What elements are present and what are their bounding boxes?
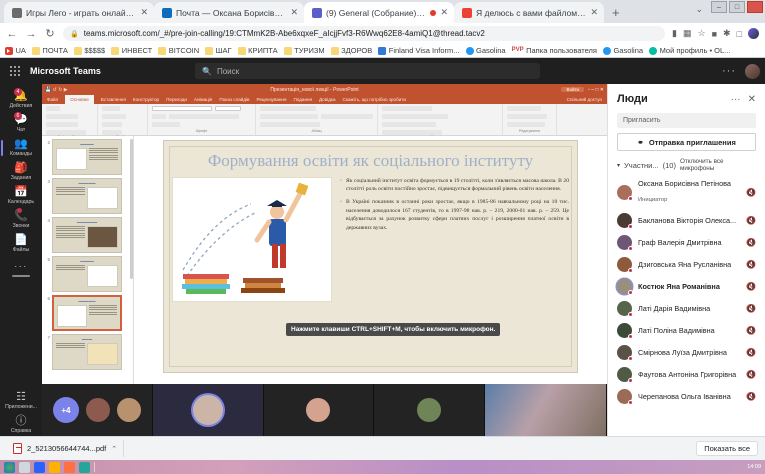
recording-indicator-icon [430, 10, 436, 16]
avatar [306, 398, 330, 422]
clock[interactable]: 14:09 [747, 464, 761, 470]
ppt-window-controls[interactable]: ▫ – □ ✕ [588, 87, 604, 93]
user-avatar[interactable] [745, 64, 760, 79]
participant-name: Дзиговська Яна Русланівна [638, 260, 740, 269]
bookmark-label: ПОЧТА [42, 46, 67, 55]
tab-favicon-icon [312, 8, 322, 18]
apps-grid-icon[interactable]: ■ [712, 29, 717, 39]
folder-icon [74, 47, 82, 55]
invite-input[interactable]: Пригласить [617, 113, 756, 128]
bookmark-item[interactable]: BITCOIN [158, 46, 199, 55]
minimize-button[interactable]: – [711, 1, 727, 13]
ppt-tab-design[interactable]: Конструктор [133, 97, 159, 102]
thumbnail-image: ▬▬▬ [52, 334, 122, 370]
badge-dot [17, 208, 22, 213]
droplet-icon [466, 47, 474, 55]
tab-favicon-icon [462, 8, 472, 18]
ribbon-group-slides[interactable]: Слайди [98, 104, 148, 135]
sidebar-divider [12, 275, 30, 277]
slide-thumbnail[interactable]: 2 ▬▬▬▬ [45, 139, 131, 175]
bookmark-item[interactable]: ТУРИЗМ [284, 46, 325, 55]
backpack-icon: 🎒 [14, 162, 28, 174]
profile-avatar-icon[interactable] [748, 28, 759, 39]
cast-icon[interactable]: ▮ [672, 28, 677, 39]
avatar [617, 389, 632, 404]
browser-tab[interactable]: Игры Лего - играть онлайн бес ✕ [4, 2, 154, 23]
search-placeholder: Поиск [217, 67, 239, 76]
ribbon-group-drawing[interactable]: Креслення [378, 104, 503, 135]
sidebar-item-assignments[interactable]: 🎒 Задания [0, 159, 42, 183]
screen: Игры Лего - играть онлайн бес ✕ Почта — … [0, 0, 765, 474]
chevron-down-icon[interactable]: ▾ [617, 162, 620, 169]
ppt-tab-help[interactable]: Довідка [319, 97, 336, 102]
slide-title: Формування освіти як соціального інститу… [172, 151, 569, 171]
presence-badge [628, 378, 633, 383]
participant-name: Бакланова Вікторія Олекса... [638, 216, 740, 225]
slide-thumbnail[interactable]: 7 ▬▬▬ [45, 334, 131, 370]
presence-badge [628, 356, 633, 361]
sidebar-item-label: Календарь [8, 199, 34, 205]
slide-illustration [172, 177, 332, 302]
bookmark-item[interactable]: Finland Visa Inform... [378, 46, 459, 55]
browser-tabstrip: Игры Лего - играть онлайн бес ✕ Почта — … [0, 0, 765, 23]
chat-icon: 💬6 [14, 114, 28, 126]
participants-section-header[interactable]: ▾ Участни... (10) Отключить все микрофон… [608, 158, 765, 172]
ribbon-group-paragraph[interactable]: Абзац [256, 104, 378, 135]
avatar [617, 301, 632, 316]
slide-bullet: В Україні показник в останні роки зроста… [340, 198, 569, 233]
sidebar-item-apps[interactable]: ☷ Приложени... [0, 388, 42, 412]
maximize-button[interactable]: □ [729, 1, 745, 13]
explorer-icon[interactable] [19, 462, 30, 473]
sidebar-item-label: Звонки [13, 223, 30, 229]
bookmark-star-icon[interactable]: ☆ [698, 28, 706, 39]
chevron-up-icon[interactable]: ⌃ [111, 445, 117, 453]
edge-icon[interactable] [79, 462, 90, 473]
avatar [193, 395, 223, 425]
windows-taskbar: 14:09 [0, 460, 765, 474]
participant-list: Оксана Борисівна Петінова Инициатор 🔇 Ба… [608, 175, 765, 436]
presence-badge [628, 312, 633, 317]
header-actions: ··· [722, 64, 765, 79]
bookmark-label: Мой профиль • OL... [660, 46, 731, 55]
bookmark-item[interactable]: Мой профиль • OL... [649, 46, 730, 55]
people-panel-header: Люди ··· ✕ [608, 84, 765, 111]
presence-badge [628, 400, 633, 405]
participants-section-label: Участни... [624, 161, 659, 170]
teams-body: 🔔4 Действия 💬6 Чат 👥 Команды 🎒 Задания 📅… [0, 84, 765, 436]
participant-row[interactable]: Дзиговська Яна Русланівна 🔇 [608, 253, 765, 275]
share-icon: ⚭ [637, 138, 644, 147]
folder-icon [238, 47, 246, 55]
ribbon-group-label: Абзац [260, 129, 373, 133]
bookmark-label: BITCOIN [169, 46, 199, 55]
ribbon-group-label: Редагування [507, 129, 552, 133]
phone-icon: 📞 [14, 210, 28, 222]
mic-icon[interactable]: 🔇 [746, 188, 756, 197]
participant-row[interactable]: Граф Валерія Дмитрівна 🔇 [608, 231, 765, 253]
more-options-icon[interactable]: ··· [731, 94, 741, 105]
participant-name: Оксана Борисівна Петінова [638, 179, 740, 188]
participant-row[interactable]: Смірнова Луїза Дмитрівна 🔇 [608, 341, 765, 363]
back-icon[interactable]: ← [6, 28, 18, 40]
ppt-tab-home[interactable]: Основне [65, 95, 94, 104]
participant-name: Фаутова Антоніна Григорівна [638, 370, 740, 379]
folder-icon [158, 47, 166, 55]
bookmark-item[interactable]: Gasolina [466, 46, 506, 55]
avatar [86, 398, 110, 422]
bookmark-label: ИНВЕСТ [122, 46, 153, 55]
header-more-button[interactable]: ··· [722, 65, 736, 77]
store-icon[interactable] [34, 462, 45, 473]
slide-thumbnail-selected[interactable]: 6 ▬▬▬▬▬ [45, 295, 131, 331]
bookmark-label: $$$$$ [84, 46, 105, 55]
avatar [417, 398, 441, 422]
bell-icon: 🔔4 [14, 90, 28, 102]
bookmark-item[interactable]: Gasolina [603, 46, 643, 55]
toolbar-icons: ▮ ▦ ☆ ■ ✱ □ [672, 28, 759, 39]
bookmark-item[interactable]: ПОЧТА [32, 46, 68, 55]
participant-name: Латі Дарія Вадимівна [638, 304, 740, 313]
badge-count: 6 [14, 112, 22, 120]
folder-icon [284, 47, 292, 55]
extensions-icon[interactable]: ▦ [683, 28, 692, 39]
bookmark-label: UA [16, 46, 26, 55]
sidebar-item-calendar[interactable]: 📅 Календарь [0, 183, 42, 207]
mic-icon[interactable]: 🔇 [746, 282, 756, 291]
folder-icon [205, 47, 213, 55]
app-title: Microsoft Teams [30, 66, 195, 76]
close-window-button[interactable] [747, 1, 763, 13]
browser-tab[interactable]: Я делюсь с вами файлом 2_521 ✕ [454, 2, 604, 23]
badge-count: 4 [14, 88, 22, 96]
close-icon[interactable]: ✕ [140, 7, 148, 18]
bookmark-item[interactable]: ИНВЕСТ [111, 46, 152, 55]
people-icon: 👥 [14, 138, 28, 150]
mic-icon[interactable]: 🔇 [746, 216, 756, 225]
tab-label: Игры Лего - играть онлайн бес [26, 8, 136, 18]
tab-label: (9) General (Собрание) | Mi [326, 8, 426, 18]
people-panel-actions: ··· ✕ [731, 94, 756, 105]
text-icon: PVP [512, 47, 524, 55]
ppt-tellme[interactable]: Скажіть, що потрібно зробити [343, 97, 406, 102]
sidebar-item-files[interactable]: 📄 Файлы [0, 231, 42, 255]
mic-icon[interactable]: 🔇 [746, 392, 756, 401]
ribbon-group-editing[interactable]: Редагування [503, 104, 557, 135]
ppt-ribbon: Буфер обміну Слайди Шрифт Абзац [42, 104, 607, 136]
bookmark-item[interactable]: $$$$$ [74, 46, 105, 55]
sidebar-item-label: Приложени... [5, 404, 37, 410]
plus-icon [378, 47, 386, 55]
search-icon: 🔍 [202, 67, 212, 76]
slide-number: 2 [45, 139, 50, 145]
shared-powerpoint-window: 💾 ↺ ↻ ▶ Презентація_нової лекції - Power… [42, 84, 607, 384]
browser-icon[interactable] [4, 462, 15, 473]
bookmark-label: Gasolina [476, 46, 506, 55]
folder-icon [331, 47, 339, 55]
avatar [617, 323, 632, 338]
teams-nav-rail: 🔔4 Действия 💬6 Чат 👥 Команды 🎒 Задания 📅… [0, 84, 42, 436]
browser-tab-active[interactable]: (9) General (Собрание) | Mi ✕ [304, 2, 454, 23]
slide-number: 7 [45, 334, 50, 340]
close-icon[interactable]: ✕ [440, 7, 448, 18]
avatar [617, 235, 632, 250]
ribbon-group-font[interactable]: Шрифт [148, 104, 256, 135]
sidebar-item-chat[interactable]: 💬6 Чат [0, 111, 42, 135]
thumbnail-image: ▬▬▬▬▬▬ [52, 217, 122, 253]
participant-row[interactable]: Оксана Борисівна Петінова Инициатор 🔇 [608, 175, 765, 209]
ribbon-group-clipboard[interactable]: Буфер обміну [42, 104, 98, 135]
mic-icon[interactable]: 🔇 [746, 304, 756, 313]
send-invitation-label: Отправка приглашения [649, 138, 736, 147]
player-icon[interactable] [49, 462, 60, 473]
forward-icon[interactable]: → [25, 28, 37, 40]
bookmark-label: ЗДОРОВ [341, 46, 372, 55]
firefox-icon[interactable] [64, 462, 75, 473]
send-invitation-button[interactable]: ⚭ Отправка приглашения [617, 133, 756, 151]
ppt-signin-button[interactable]: Войти [561, 87, 584, 92]
filmstrip-tile[interactable] [374, 384, 485, 436]
ribbon-group-label: Шрифт [152, 129, 251, 133]
tab-label: Я делюсь с вами файлом 2_521 [476, 8, 586, 18]
pdf-file-icon [13, 443, 22, 454]
participant-row[interactable]: Латі Поліна Вадимівна 🔇 [608, 319, 765, 341]
filmstrip-tile[interactable] [264, 384, 375, 436]
mic-icon[interactable]: 🔇 [746, 348, 756, 357]
avatar [617, 345, 632, 360]
people-panel-title: Люди [617, 93, 648, 105]
file-icon: 📄 [14, 234, 28, 246]
slide-thumbnail-panel[interactable]: 2 ▬▬▬▬ 3 ▬▬▬▬▬ [42, 136, 134, 384]
show-all-downloads-button[interactable]: Показать все [696, 441, 758, 456]
apps-icon: ☷ [16, 391, 26, 403]
browser-tab[interactable]: Почта — Оксана Борисівна Пе ✕ [154, 2, 304, 23]
ppt-titlebar: 💾 ↺ ↻ ▶ Презентація_нової лекції - Power… [42, 84, 607, 95]
participant-name: Черепанова Ольга Іванівна [638, 392, 740, 401]
sidebar-item-label: Действия [10, 103, 33, 109]
close-icon[interactable]: ✕ [290, 7, 298, 18]
slide-number: 3 [45, 178, 50, 184]
presence-badge [628, 334, 633, 339]
search-input[interactable]: 🔍 Поиск [195, 63, 540, 79]
bookmark-item[interactable]: КРИПТА [238, 46, 278, 55]
close-icon[interactable]: ✕ [590, 7, 598, 18]
current-slide: Формування освіти як соціального інститу… [163, 140, 578, 373]
presence-badge [628, 224, 633, 229]
tab-label: Почта — Оксана Борисівна Пе [176, 8, 286, 18]
invite-placeholder: Пригласить [623, 117, 660, 124]
ppt-ribbon-tabs: Файл Основне Вставлення Конструктор Пере… [42, 95, 607, 104]
sidebar-item-calls[interactable]: 📞 Звонки [0, 207, 42, 231]
filmstrip-tile-overflow[interactable]: +4 [42, 384, 153, 436]
menu-square-icon[interactable]: □ [737, 29, 742, 39]
mic-icon[interactable]: 🔇 [746, 326, 756, 335]
participant-row[interactable]: Фаутова Антоніна Григорівна 🔇 [608, 363, 765, 385]
avatar [617, 279, 632, 294]
filmstrip-tile-video[interactable] [485, 384, 607, 436]
participant-name: Смірнова Луїза Дмитрівна [638, 348, 740, 357]
taskbar-divider [94, 462, 95, 472]
slide-number: 5 [45, 256, 50, 262]
lock-icon: 🔒 [70, 30, 79, 38]
taskbar-tray: 14:09 [747, 464, 761, 470]
sidebar-item-teams[interactable]: 👥 Команды [0, 135, 42, 159]
slide-number: 4 [45, 217, 50, 223]
calendar-icon: 📅 [14, 186, 28, 198]
bookmark-item[interactable]: ЗДОРОВ [331, 46, 373, 55]
new-tab-button[interactable]: + [604, 3, 628, 23]
participant-name: Граф Валерія Дмитрівна [638, 238, 740, 247]
filmstrip-tile-speaking[interactable] [153, 384, 264, 436]
bookmark-label: Gasolina [613, 46, 643, 55]
app-launcher-button[interactable] [0, 66, 30, 77]
slide-thumbnail[interactable]: 3 ▬▬▬▬▬ [45, 178, 131, 214]
participant-row-self[interactable]: Костюк Яна Романівна 🔇 [608, 275, 765, 297]
mic-tooltip: Нажмите клавиши CTRL+SHIFT+M, чтобы вклю… [286, 323, 500, 336]
help-icon: ⓘ [16, 415, 27, 427]
thumbnail-image: ▬▬▬▬▬ [52, 295, 122, 331]
ppt-tab-file[interactable]: Файл [47, 97, 58, 102]
slide-bullet: Як соціальний інститут освіта формується… [340, 177, 569, 194]
folder-icon [111, 47, 119, 55]
graduate-illustration-svg [173, 178, 332, 302]
ppt-document-title: Презентація_нової лекції - PowerPoint [72, 87, 558, 93]
thumbnail-image: ▬▬▬▬ [52, 139, 122, 175]
ppt-tab-transitions[interactable]: Переходи [166, 97, 187, 102]
slide-thumbnail[interactable]: 5 ▬▬▬▬ [45, 256, 131, 292]
ppt-main: 2 ▬▬▬▬ 3 ▬▬▬▬▬ [42, 136, 607, 384]
presence-badge [628, 268, 633, 273]
thumbnail-image: ▬▬▬▬ [52, 256, 122, 292]
ppt-tab-insert[interactable]: Вставлення [101, 97, 126, 102]
sidebar-item-help[interactable]: ⓘ Справка [0, 412, 42, 436]
ppt-tab-slideshow[interactable]: Показ слайдів [219, 97, 249, 102]
avatar [617, 213, 632, 228]
participant-filmstrip: +4 [42, 384, 607, 436]
ppt-share-button[interactable]: Спільний доступ [567, 97, 602, 102]
bookmark-item[interactable]: PVPПапка пользователя [512, 46, 597, 55]
bookmark-label: Finland Visa Inform... [389, 46, 460, 55]
ppt-tab-animations[interactable]: Анімація [194, 97, 212, 102]
pin-icon[interactable]: ✱ [723, 28, 731, 39]
ppt-tab-review[interactable]: Рецензування [257, 97, 287, 102]
close-icon[interactable]: ✕ [748, 94, 756, 105]
avatar [117, 398, 141, 422]
thumbnail-image: ▬▬▬▬▬ [52, 178, 122, 214]
presence-badge [628, 246, 633, 251]
participant-row[interactable]: Латі Дарія Вадимівна 🔇 [608, 297, 765, 319]
browser-chrome: Игры Лего - играть онлайн бес ✕ Почта — … [0, 0, 765, 58]
url-text: teams.microsoft.com/_#/pre-join-calling/… [84, 29, 485, 38]
thumbnail-scrollbar[interactable] [130, 139, 133, 279]
download-file-name: 2_5213056644744...pdf [27, 444, 106, 453]
people-panel: Люди ··· ✕ Пригласить ⚭ Отправка приглаш… [607, 84, 765, 436]
meeting-stage: 💾 ↺ ↻ ▶ Презентація_нової лекції - Power… [42, 84, 607, 436]
mute-all-button[interactable]: Отключить все микрофоны [680, 158, 756, 172]
teams-header: Microsoft Teams 🔍 Поиск ··· [0, 58, 765, 84]
avatar [617, 367, 632, 382]
mic-icon[interactable]: 🔇 [746, 260, 756, 269]
participant-name: Костюк Яна Романівна [638, 282, 740, 291]
slide-bullet-list: Як соціальний інститут освіта формується… [340, 177, 569, 302]
avatar [617, 185, 632, 200]
tab-search-chevron-icon[interactable]: ⌄ [695, 4, 703, 15]
quick-access-toolbar[interactable]: 💾 ↺ ↻ ▶ [45, 87, 68, 93]
slide-content: Як соціальний інститут освіта формується… [172, 177, 569, 302]
participant-role: Инициатор [638, 197, 667, 203]
sidebar-item-activity[interactable]: 🔔4 Действия [0, 87, 42, 111]
participant-name: Латі Поліна Вадимівна [638, 326, 740, 335]
youtube-icon [5, 47, 13, 55]
bookmark-label: Папка пользователя [526, 46, 597, 55]
bookmark-label: ТУРИЗМ [294, 46, 325, 55]
bookmark-label: ШАГ [216, 46, 232, 55]
avatar [617, 257, 632, 272]
bookmark-item[interactable]: ШАГ [205, 46, 231, 55]
bookmarks-bar: UA ПОЧТА $$$$$ ИНВЕСТ BITCOIN ШАГ КРИПТА… [0, 44, 765, 58]
bookmark-item[interactable]: UA [5, 46, 26, 55]
slide-canvas: Формування освіти як соціального інститу… [134, 136, 607, 384]
sidebar-item-label: Задания [11, 175, 32, 181]
participant-row[interactable]: Черепанова Ольга Іванівна 🔇 [608, 385, 765, 407]
mic-icon[interactable]: 🔇 [746, 370, 756, 379]
slide-thumbnail[interactable]: 4 ▬▬▬▬▬▬ [45, 217, 131, 253]
folder-icon [32, 47, 40, 55]
sidebar-item-label: Команды [10, 151, 32, 157]
reload-icon[interactable]: ↻ [44, 27, 56, 40]
presence-badge [628, 290, 633, 295]
tab-favicon-icon [12, 8, 22, 18]
mic-icon[interactable]: 🔇 [746, 238, 756, 247]
sidebar-more-button[interactable]: ··· [14, 261, 28, 271]
download-bar: 2_5213056644744...pdf ⌃ Показать все [0, 436, 765, 460]
window-controls: – □ [711, 1, 763, 13]
globe-icon [649, 47, 657, 55]
bookmark-label: КРИПТА [248, 46, 278, 55]
participant-row[interactable]: Бакланова Вікторія Олекса... 🔇 [608, 209, 765, 231]
waffle-grid-icon [10, 66, 21, 77]
sidebar-item-label: Файлы [13, 247, 29, 253]
tab-favicon-icon [162, 8, 172, 18]
browser-toolbar: ← → ↻ 🔒 teams.microsoft.com/_#/pre-join-… [0, 23, 765, 44]
presence-badge [628, 196, 633, 201]
overflow-count-badge: +4 [53, 397, 79, 423]
address-bar[interactable]: 🔒 teams.microsoft.com/_#/pre-join-callin… [63, 26, 665, 41]
download-item[interactable]: 2_5213056644744...pdf ⌃ [7, 440, 124, 457]
sidebar-item-label: Справка [11, 428, 31, 434]
slide-number: 6 [45, 295, 50, 301]
droplet-icon [603, 47, 611, 55]
ppt-tab-view[interactable]: Подання [293, 97, 312, 102]
sidebar-item-label: Чат [17, 127, 26, 133]
participants-count: (10) [663, 161, 676, 170]
